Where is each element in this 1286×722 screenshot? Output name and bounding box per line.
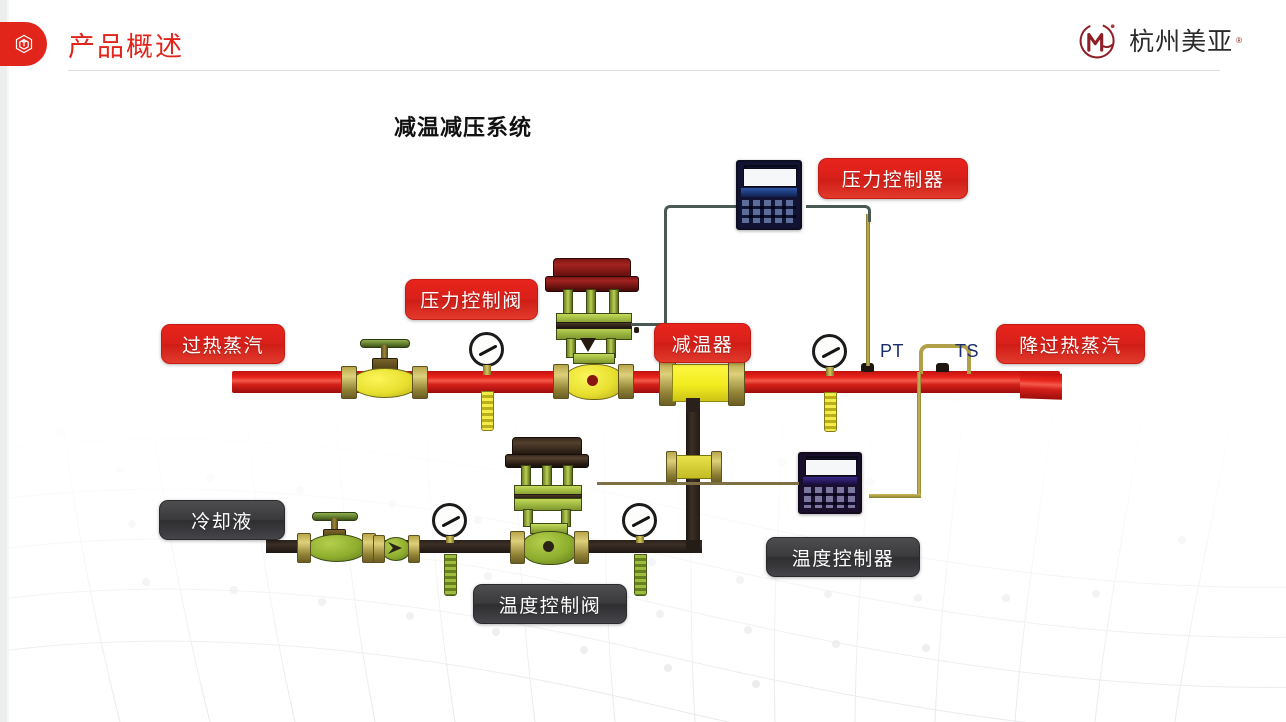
controller-status-bar xyxy=(741,188,797,197)
header-badge xyxy=(0,22,47,66)
steam-pressure-gauge-1 xyxy=(469,332,504,367)
tcv-flange-left xyxy=(510,531,525,564)
tag-pressure-transmitter: PT xyxy=(880,341,904,362)
cube-hexagon-icon xyxy=(13,33,35,55)
coolant-gauge-1-stem xyxy=(446,536,454,543)
controller-display xyxy=(805,459,857,476)
coolant-gauge-2 xyxy=(622,503,657,538)
header-divider xyxy=(68,70,1220,71)
steam-gauge-2-drain xyxy=(824,392,837,432)
coolant-gate-valve-flange-left xyxy=(297,533,311,563)
controller-status-bar xyxy=(803,477,857,485)
gauge-needle xyxy=(441,515,460,527)
pcv-body-seam xyxy=(556,322,632,329)
desuperheater-injection-neck xyxy=(686,398,700,412)
tcv-to-controller-wire xyxy=(597,482,799,488)
pcv-flange-right xyxy=(618,364,634,399)
pt-impulse-line xyxy=(866,214,870,366)
steam-gate-valve-flange-left xyxy=(341,366,357,399)
brand-registered-mark: ® xyxy=(1236,36,1242,45)
coolant-strainer-flange-right xyxy=(408,535,420,563)
gauge-needle xyxy=(821,346,840,358)
riser-spool-flange-left xyxy=(666,451,677,483)
steam-gauge-2-stem xyxy=(826,367,834,376)
coolant-gate-valve-body xyxy=(307,534,367,562)
label-desuperheated-steam[interactable]: 降过热蒸汽 xyxy=(996,324,1145,364)
pcv-body-port xyxy=(587,375,598,386)
gauge-needle xyxy=(478,344,497,356)
left-edge-strip xyxy=(0,0,7,722)
controller-display xyxy=(743,168,797,187)
tag-temperature-sensor: TS xyxy=(955,341,979,362)
tcv-flange-right xyxy=(574,531,589,564)
label-desuperheater[interactable]: 减温器 xyxy=(654,323,751,363)
brand-logo: 杭州美亚 ® xyxy=(1076,18,1242,62)
desuperheater-body xyxy=(672,364,732,402)
pcv-bonnet xyxy=(573,353,615,364)
ts-tap xyxy=(936,363,949,372)
controller-keypad xyxy=(742,200,797,224)
label-temperature-control-valve[interactable]: 温度控制阀 xyxy=(473,584,627,624)
left-edge-strip-inner xyxy=(7,0,9,722)
steam-gate-valve-body xyxy=(352,368,418,398)
coolant-gauge-2-stem xyxy=(636,536,644,543)
pcv-stem-connector xyxy=(580,338,596,352)
controller-to-pt-wire xyxy=(806,205,871,222)
coolant-gauge-1-drain xyxy=(444,554,457,596)
gauge-needle xyxy=(631,515,650,527)
desuperheater-flange-right xyxy=(728,360,745,406)
coolant-gauge-2-drain xyxy=(634,554,647,596)
label-coolant[interactable]: 冷却液 xyxy=(159,500,285,540)
temperature-controller-device xyxy=(798,452,862,514)
coolant-gauge-1 xyxy=(432,503,467,538)
coolant-strainer-flange-left xyxy=(373,535,385,563)
slide-root: 产品概述 杭州美亚 ® 减温减压系统 xyxy=(0,0,1286,722)
steam-gauge-1-stem xyxy=(483,365,491,375)
pcv-flange-left xyxy=(553,364,569,399)
page-title: 产品概述 xyxy=(68,25,184,64)
tcv-body-port xyxy=(543,541,554,552)
controller-keypad xyxy=(804,487,857,508)
main-steam-pipe-outlet xyxy=(1020,372,1062,400)
label-pressure-controller[interactable]: 压力控制器 xyxy=(818,158,968,199)
label-superheated-steam[interactable]: 过热蒸汽 xyxy=(161,324,285,364)
label-pressure-control-valve[interactable]: 压力控制阀 xyxy=(405,279,538,320)
steam-pressure-gauge-2 xyxy=(812,334,847,369)
pressure-controller-device xyxy=(736,160,802,230)
steam-gate-valve-flange-right xyxy=(412,366,428,399)
diagram-title: 减温减压系统 xyxy=(394,110,532,142)
riser-spool-flange-right xyxy=(711,451,722,483)
coolant-riser-elbow xyxy=(686,540,700,553)
meiya-m-circle-logo xyxy=(1076,18,1120,62)
label-temperature-controller[interactable]: 温度控制器 xyxy=(766,537,920,577)
ts-signal-line-vertical xyxy=(917,372,921,498)
ts-signal-line-horizontal xyxy=(869,494,921,498)
brand-name: 杭州美亚 xyxy=(1129,22,1233,58)
steam-gauge-1-drain xyxy=(481,391,494,431)
